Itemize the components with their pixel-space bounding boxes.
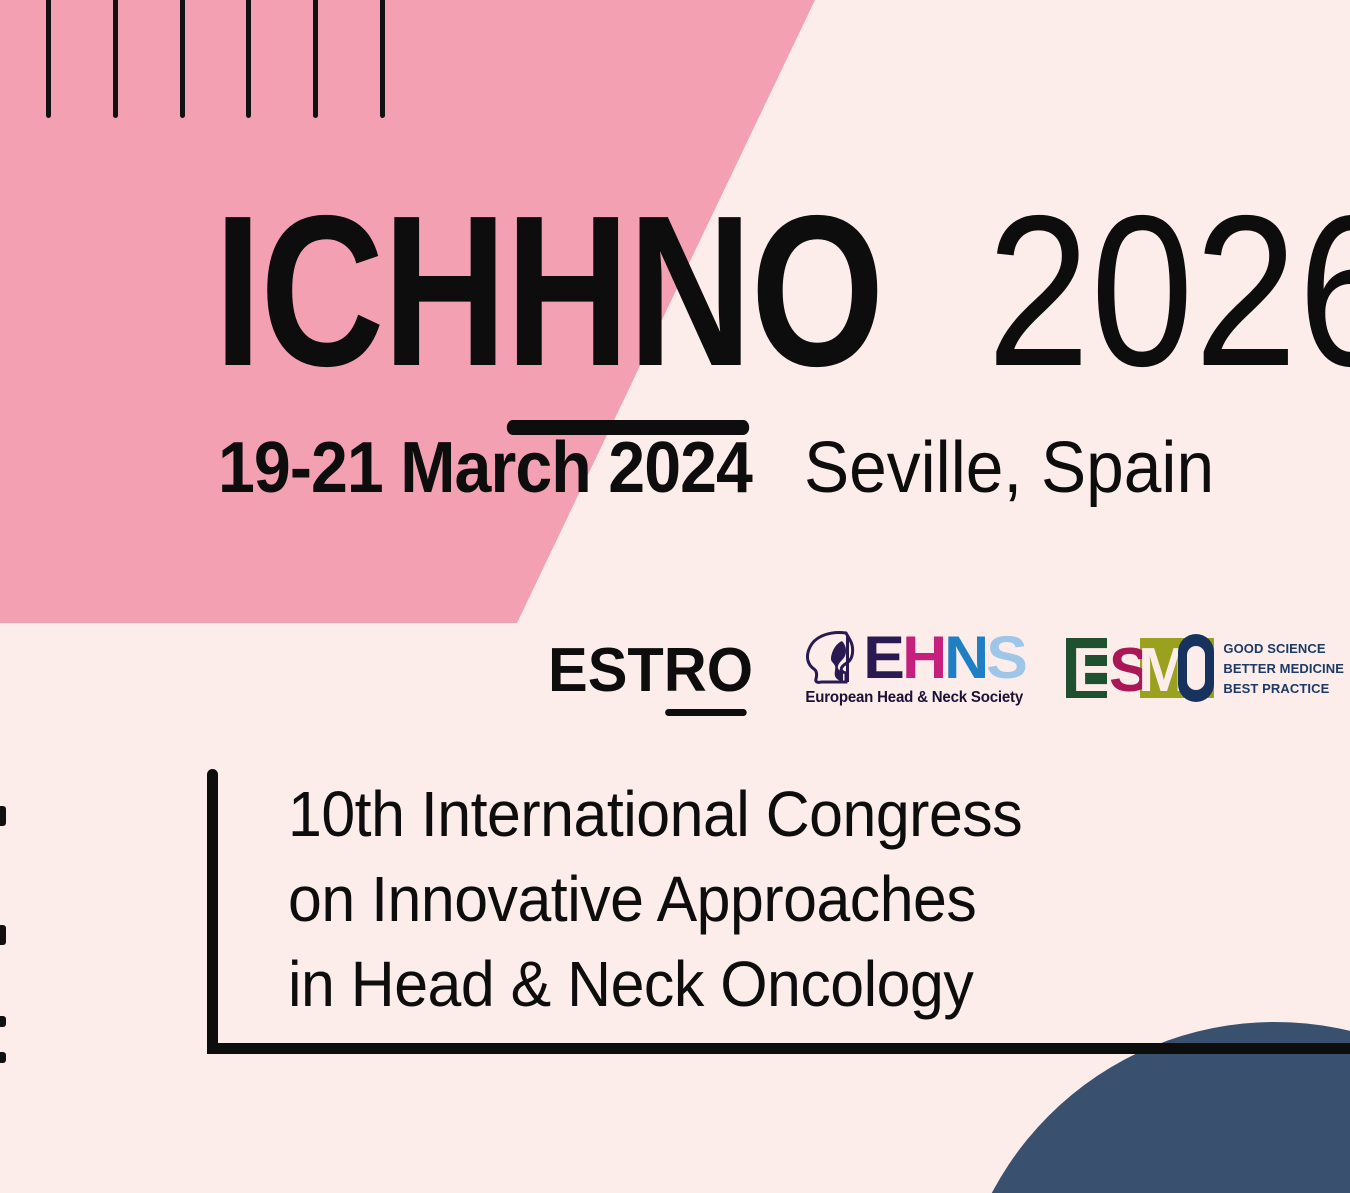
esmo-tagline-1: GOOD SCIENCE xyxy=(1223,641,1344,656)
ehns-letter-s: S xyxy=(987,632,1028,685)
conference-poster: ICHHNO 2026 19-21 March 2024 Seville, Sp… xyxy=(0,0,1350,1193)
edge-tick-2 xyxy=(0,925,6,945)
svg-text:E: E xyxy=(1072,636,1113,704)
congress-subtitle-line-2: on Innovative Approaches xyxy=(288,857,1143,942)
partner-logos: ESTRO EHNS European Head & Neck Society xyxy=(548,618,1344,718)
acronym-underlined-hn: HN xyxy=(505,170,750,411)
edge-tick-1 xyxy=(0,806,6,826)
ehns-letter-h: H xyxy=(902,632,946,685)
edge-tick-4 xyxy=(0,1052,6,1063)
bracket-vertical-rule xyxy=(207,769,218,1054)
acronym-prefix: ICH xyxy=(214,170,505,411)
comb-line-1 xyxy=(46,0,51,118)
esmo-tagline-2: BETTER MEDICINE xyxy=(1223,661,1344,676)
ehns-letter-n: N xyxy=(944,632,988,685)
estro-logo[interactable]: ESTRO xyxy=(548,640,753,702)
estro-prefix: EST xyxy=(548,636,664,705)
esmo-lettermark-icon: E S M xyxy=(1066,632,1214,704)
ehns-logo[interactable]: EHNS European Head & Neck Society xyxy=(802,629,1027,707)
esmo-tagline-3: BEST PRACTICE xyxy=(1223,681,1344,696)
ehns-lettermark: EHNS xyxy=(864,633,1027,685)
ehns-letter-e: E xyxy=(863,632,904,685)
poster-title: ICHHNO 2026 xyxy=(214,183,1350,398)
comb-line-3 xyxy=(180,0,185,118)
comb-line-6 xyxy=(380,0,385,118)
estro-suffix: O xyxy=(707,636,753,705)
comb-line-4 xyxy=(246,0,251,118)
comb-line-2 xyxy=(113,0,118,118)
bracket-horizontal-rule xyxy=(207,1043,1350,1054)
edge-tick-3 xyxy=(0,1016,6,1027)
ehns-mark: EHNS xyxy=(802,629,1027,685)
estro-underlined-r: R xyxy=(664,636,707,705)
congress-subtitle: 10th International Congress on Innovativ… xyxy=(288,772,1188,1027)
congress-year: 2026 xyxy=(987,183,1350,398)
event-details: 19-21 March 2024 Seville, Spain xyxy=(218,432,1241,504)
ehns-society-name: European Head & Neck Society xyxy=(805,689,1023,707)
acronym-suffix: O xyxy=(751,170,883,411)
head-silhouette-icon xyxy=(802,629,864,685)
congress-acronym: ICHHNO xyxy=(214,183,883,398)
esmo-tagline: GOOD SCIENCE BETTER MEDICINE BEST PRACTI… xyxy=(1223,641,1344,696)
event-location: Seville, Spain xyxy=(804,432,1214,504)
comb-line-5 xyxy=(313,0,318,118)
event-dates: 19-21 March 2024 xyxy=(218,432,752,504)
esmo-logo[interactable]: E S M GOOD SCIENCE BETTER MEDICINE BEST … xyxy=(1066,632,1344,704)
congress-subtitle-line-1: 10th International Congress xyxy=(288,772,1143,857)
congress-subtitle-line-3: in Head & Neck Oncology xyxy=(288,942,1143,1027)
